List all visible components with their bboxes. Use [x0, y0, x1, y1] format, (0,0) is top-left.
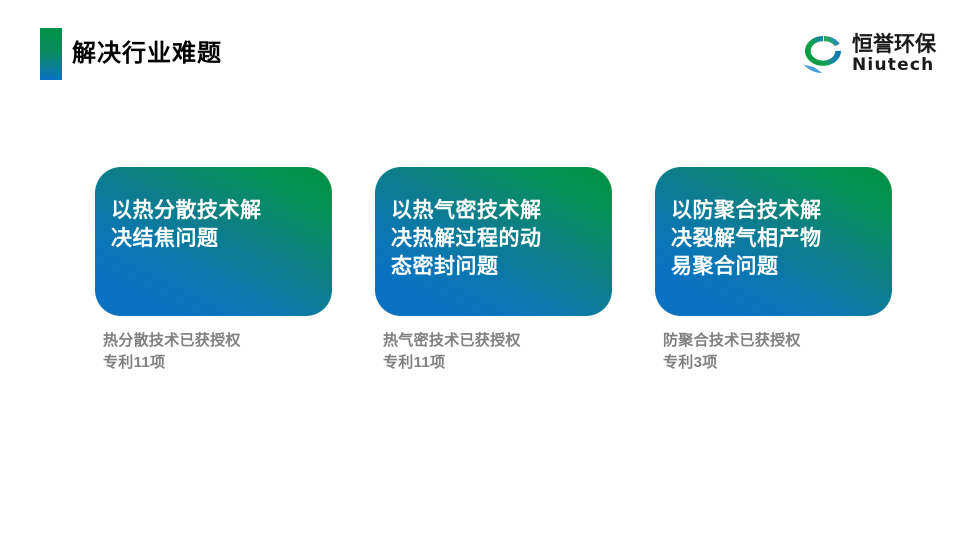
solution-card-1: 以热分散技术解 决结焦问题 热分散技术已获授权 专利11项: [95, 167, 332, 387]
card-heading-3: 以防聚合技术解 决裂解气相产物 易聚合问题: [671, 197, 872, 281]
solution-card-3: 以防聚合技术解 决裂解气相产物 易聚合问题 防聚合技术已获授权 专利3项: [655, 167, 892, 387]
card-caption-2: 热气密技术已获授权 专利11项: [375, 330, 612, 374]
logo-chinese-name: 恒誉环保: [852, 34, 936, 55]
card-heading-1: 以热分散技术解 决结焦问题: [111, 197, 312, 253]
solution-card-2: 以热气密技术解 决热解过程的动 态密封问题 热气密技术已获授权 专利11项: [375, 167, 612, 387]
slide-header: 解决行业难题 恒誉环保 Niutech: [0, 0, 954, 100]
card-caption-1: 热分散技术已获授权 专利11项: [95, 330, 332, 374]
logo-english-name: Niutech: [852, 57, 936, 74]
page-title: 解决行业难题: [72, 28, 222, 80]
solution-cards-row: 以热分散技术解 决结焦问题 热分散技术已获授权 专利11项 以热气密技术解 决热…: [95, 167, 895, 387]
logo-wordmark: 恒誉环保 Niutech: [852, 34, 936, 74]
company-logo: 恒誉环保 Niutech: [801, 30, 936, 78]
title-accent-bar: [40, 28, 62, 80]
card-heading-2: 以热气密技术解 决热解过程的动 态密封问题: [391, 197, 592, 281]
card-gradient-panel-3: 以防聚合技术解 决裂解气相产物 易聚合问题: [655, 167, 892, 316]
card-caption-3: 防聚合技术已获授权 专利3项: [655, 330, 892, 374]
card-gradient-panel-2: 以热气密技术解 决热解过程的动 态密封问题: [375, 167, 612, 316]
niutech-ring-icon: [801, 32, 845, 76]
card-gradient-panel-1: 以热分散技术解 决结焦问题: [95, 167, 332, 316]
